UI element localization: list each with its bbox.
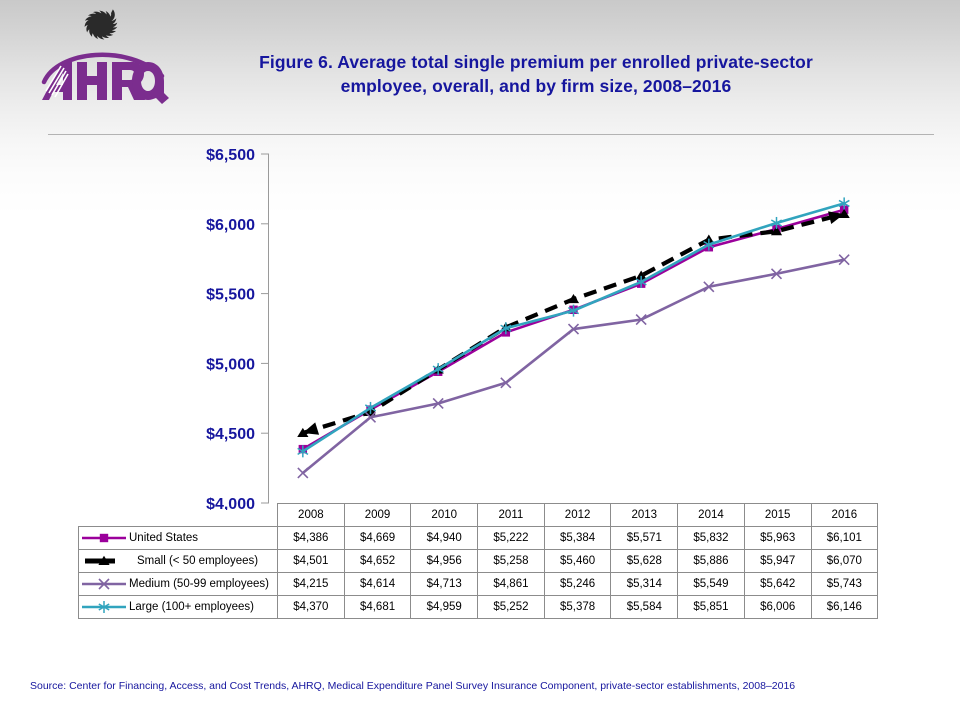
legend-cell: Small (< 50 employees) [79, 550, 278, 573]
table-cell: $4,669 [344, 527, 411, 550]
table-cell: $5,252 [478, 596, 545, 619]
table-cell: $5,378 [544, 596, 611, 619]
table-cell: $5,642 [744, 573, 811, 596]
page-header: Figure 6. Average total single premium p… [0, 0, 960, 132]
legend-swatch-large [81, 597, 127, 617]
chart-series [297, 197, 850, 478]
series-large-100-employees [298, 197, 850, 457]
table-cell: $5,743 [811, 573, 878, 596]
legend-label: United States [129, 532, 198, 544]
data-point-square-marker [100, 534, 108, 542]
table-cell: $4,652 [344, 550, 411, 573]
table-cell: $5,246 [544, 573, 611, 596]
ahrq-wordmark-icon [36, 42, 172, 106]
table-cell: $4,501 [278, 550, 345, 573]
table-cell: $5,314 [611, 573, 678, 596]
table-cell: $5,384 [544, 527, 611, 550]
legend-swatch-united-states [81, 528, 127, 548]
table-cell: $5,258 [478, 550, 545, 573]
source-note: Source: Center for Financing, Access, an… [30, 680, 940, 692]
series-arrow-start [303, 422, 319, 434]
table-column-header: 2011 [478, 504, 545, 527]
ahrq-logo [30, 6, 170, 110]
legend-label: Small (< 50 employees) [129, 555, 258, 567]
y-axis-tick-label: $6,000 [206, 217, 255, 234]
page-title: Figure 6. Average total single premium p… [186, 50, 886, 98]
y-axis-tick-label: $6,500 [206, 147, 255, 164]
table-cell: $6,101 [811, 527, 878, 550]
data-table: 200820092010201120122013201420152016Unit… [78, 503, 878, 619]
table-column-header: 2012 [544, 504, 611, 527]
table-cell: $5,549 [678, 573, 745, 596]
table-cell: $5,584 [611, 596, 678, 619]
legend-cell: United States [79, 527, 278, 550]
table-row: United States$4,386$4,669$4,940$5,222$5,… [79, 527, 878, 550]
y-axis-tick-label: $5,000 [206, 356, 255, 373]
chart-canvas: $4,000$4,500$5,000$5,500$6,000$6,500 [0, 140, 960, 510]
page-title-line-1: Figure 6. Average total single premium p… [259, 52, 813, 72]
legend-cell: Large (100+ employees) [79, 596, 278, 619]
table-cell: $5,460 [544, 550, 611, 573]
table-cell: $6,006 [744, 596, 811, 619]
table-column-header: 2010 [411, 504, 478, 527]
table-column-header: 2008 [278, 504, 345, 527]
header-divider [48, 134, 934, 135]
table-cell: $6,146 [811, 596, 878, 619]
table-header-row: 200820092010201120122013201420152016 [79, 504, 878, 527]
data-table-container: 200820092010201120122013201420152016Unit… [78, 503, 878, 619]
y-axis-labels: $4,000$4,500$5,000$5,500$6,000$6,500 [206, 147, 255, 510]
line-chart: $4,000$4,500$5,000$5,500$6,000$6,500 [0, 140, 960, 510]
table-column-header: 2016 [811, 504, 878, 527]
table-cell: $5,851 [678, 596, 745, 619]
table-row: Small (< 50 employees)$4,501$4,652$4,956… [79, 550, 878, 573]
table-row: Large (100+ employees)$4,370$4,681$4,959… [79, 596, 878, 619]
series-medium-50-99-employees [298, 255, 849, 478]
y-axis-tick-label: $4,500 [206, 426, 255, 443]
figure-page: Figure 6. Average total single premium p… [0, 0, 960, 720]
data-point-x-marker [298, 468, 308, 478]
table-row: Medium (50-99 employees)$4,215$4,614$4,7… [79, 573, 878, 596]
table-corner-cell [79, 504, 278, 527]
y-axis-tick-label: $5,500 [206, 287, 255, 304]
table-cell: $4,370 [278, 596, 345, 619]
table-cell: $5,832 [678, 527, 745, 550]
table-cell: $5,886 [678, 550, 745, 573]
table-cell: $5,628 [611, 550, 678, 573]
table-cell: $5,963 [744, 527, 811, 550]
table-cell: $4,386 [278, 527, 345, 550]
table-cell: $5,222 [478, 527, 545, 550]
data-table-body: 200820092010201120122013201420152016Unit… [79, 504, 878, 619]
table-column-header: 2009 [344, 504, 411, 527]
series-line [303, 260, 844, 473]
table-cell: $4,681 [344, 596, 411, 619]
legend-cell: Medium (50-99 employees) [79, 573, 278, 596]
table-cell: $6,070 [811, 550, 878, 573]
table-cell: $4,861 [478, 573, 545, 596]
legend-swatch-medium [81, 574, 127, 594]
table-cell: $5,571 [611, 527, 678, 550]
table-cell: $4,713 [411, 573, 478, 596]
table-column-header: 2014 [678, 504, 745, 527]
table-column-header: 2015 [744, 504, 811, 527]
y-axis-ticks [261, 154, 269, 503]
legend-label: Large (100+ employees) [129, 601, 254, 613]
table-cell: $5,947 [744, 550, 811, 573]
table-cell: $4,940 [411, 527, 478, 550]
table-cell: $4,959 [411, 596, 478, 619]
table-column-header: 2013 [611, 504, 678, 527]
table-cell: $4,614 [344, 573, 411, 596]
legend-swatch-small [81, 551, 127, 571]
page-title-line-2: employee, overall, and by firm size, 200… [341, 76, 732, 96]
table-cell: $4,956 [411, 550, 478, 573]
legend-label: Medium (50-99 employees) [129, 578, 269, 590]
table-cell: $4,215 [278, 573, 345, 596]
